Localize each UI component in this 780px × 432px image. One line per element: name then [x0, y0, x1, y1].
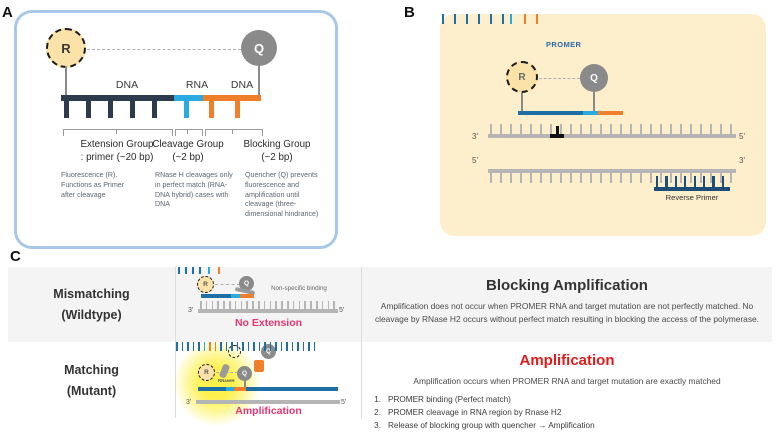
match-quencher-circle: Q [237, 366, 252, 381]
match-probe-rna [226, 387, 234, 391]
reverse-primer-bar [654, 187, 730, 191]
row-diagram-matching: Q R Q RNaseH 3' 5' [176, 342, 362, 418]
panel-b-probe-blocking [598, 111, 623, 115]
amplification-step-text: Release of blocking group with quencher … [388, 419, 595, 432]
mismatch-left-end: 3' [188, 307, 193, 314]
released-blocking-group [254, 360, 264, 372]
row-label-matching-line1: Matching [64, 363, 119, 377]
panel-b-quencher-circle: Q [580, 64, 608, 92]
reporter-circle: R [46, 28, 86, 68]
amplification-step: 1.PROMER binding (Perfect match) [372, 393, 762, 406]
promer-label: PROMER [546, 40, 581, 49]
panel-b-probe-teeth [440, 14, 766, 24]
panel-b-reporter-label: R [518, 72, 525, 83]
panel-a-letter: A [2, 4, 13, 21]
brace-tick-blocking [232, 129, 233, 134]
row-label-matching-line2: (Mutant) [67, 384, 116, 398]
table-row: Mismatching (Wildtype) R Q [8, 267, 772, 342]
group-desc-blocking: Quencher (Q) prevents fluorescence and a… [245, 171, 325, 220]
mismatch-status: No Extension [176, 317, 361, 329]
quencher-label: Q [254, 41, 264, 56]
blocking-amplification-title: Blocking Amplification [372, 277, 762, 294]
mutation-marker-base [550, 134, 564, 138]
match-reporter-label: R [204, 369, 209, 376]
panel-b-reporter-circle: R [506, 61, 538, 93]
brace-tick-cleavage [187, 129, 188, 134]
mismatch-reporter-quencher-link [215, 284, 240, 285]
group-desc-cleavage: RNase H cleavages only in perfect match … [155, 171, 233, 210]
match-reporter-circle: R [198, 364, 215, 381]
amplification-step-number: 2. [372, 406, 381, 419]
panel-b-probe-dna [518, 111, 583, 115]
amplification-step: 3.Release of blocking group with quenche… [372, 419, 762, 432]
row-text-mismatching: Blocking Amplification Amplification doe… [362, 267, 772, 342]
amplification-step: 2.PROMER cleavage in RNA region by Rnase… [372, 406, 762, 419]
mismatch-probe-rna [231, 294, 240, 298]
mismatch-template-teeth [200, 301, 336, 309]
mismatch-note: Non-specific binding [268, 285, 330, 293]
panel-b-probe-rna [583, 111, 598, 115]
row-label-mismatching-line2: (Wildtype) [61, 308, 121, 322]
panel-c-table: Mismatching (Wildtype) R Q [8, 267, 772, 418]
reporter-stem [65, 66, 67, 95]
released-blocking-circle [228, 345, 241, 358]
row-label-matching: Matching (Mutant) [8, 342, 176, 418]
match-status: Amplification [176, 405, 361, 417]
brace-extension-group [63, 129, 173, 136]
panel-b-quencher-label: Q [590, 73, 598, 84]
panel-b-quencher-stem [593, 92, 595, 111]
match-template-strand [196, 400, 340, 404]
panel-b-top-strand-teeth [490, 124, 734, 134]
group-title-blocking-line1: Blocking Group [225, 139, 329, 152]
panel-b-reporter-stem [521, 93, 523, 111]
mismatch-reporter-label: R [203, 281, 208, 288]
panel-b-bottom-strand-right-end: 3' [739, 156, 745, 165]
match-probe-dna [198, 387, 226, 391]
panel-a: R Q DNA RNA DNA Extension Group : primer… [14, 10, 338, 249]
blocking-amplification-body: Amplification does not occur when PROMER… [372, 300, 762, 325]
reporter-quencher-dashed-link [87, 49, 241, 50]
panel-b-top-strand-right-end: 5' [739, 132, 745, 141]
reporter-label: R [61, 41, 70, 56]
match-probe-blocking [234, 387, 246, 391]
group-desc-extension: Fluorescence (R). Functions as Primer af… [61, 171, 139, 200]
brace-tick-extension [116, 129, 117, 134]
rnaseh-label: RNaseH [218, 378, 234, 383]
mismatch-probe-dna [201, 294, 231, 298]
mismatch-reporter-circle: R [197, 276, 214, 293]
mismatch-template-strand [198, 309, 338, 313]
quencher-circle: Q [241, 30, 277, 66]
amplification-step-number: 3. [372, 419, 381, 432]
segment-label-rna: RNA [177, 79, 217, 91]
amplification-step-text: PROMER cleavage in RNA region by Rnase H… [388, 406, 561, 419]
group-title-blocking-line2: (~2 bp) [225, 152, 329, 165]
reverse-primer-label: Reverse Primer [644, 193, 740, 202]
amplification-steps: 1.PROMER binding (Perfect match)2.PROMER… [372, 393, 762, 432]
segment-label-dna-right: DNA [222, 79, 262, 91]
table-row: Matching (Mutant) Q R Q RNaseH [8, 342, 772, 418]
panel-b-top-strand [488, 134, 736, 138]
amplification-step-text: PROMER binding (Perfect match) [388, 393, 511, 406]
group-title-blocking: Blocking Group (~2 bp) [225, 139, 329, 164]
panel-b-bottom-strand-left-end: 5' [472, 156, 478, 165]
match-extended-strand [246, 387, 338, 391]
match-quencher-label: Q [242, 370, 247, 377]
mismatch-probe-teeth [176, 267, 361, 274]
panel-b-letter: B [404, 4, 415, 21]
reverse-primer-teeth [656, 176, 728, 187]
mismatch-quencher-label: Q [244, 280, 249, 287]
mismatch-probe-blocking [240, 294, 254, 298]
panel-b-top-strand-left-end: 3' [472, 132, 478, 141]
segment-label-dna-left: DNA [87, 79, 167, 91]
row-label-mismatching-line1: Mismatching [53, 287, 129, 301]
panel-b: PROMER R Q 3' 5' 5' 3' Reverse Primer [440, 14, 766, 236]
amplification-body: Amplification occurs when PROMER RNA and… [372, 375, 762, 388]
row-text-matching: Amplification Amplification occurs when … [362, 342, 772, 418]
amplification-step-number: 1. [372, 393, 381, 406]
brace-blocking-group [205, 129, 263, 136]
panel-b-reporter-quencher-link [539, 78, 580, 79]
mismatch-right-end: 5' [339, 307, 344, 314]
row-label-mismatching: Mismatching (Wildtype) [8, 267, 176, 342]
row-diagram-mismatching: R Q Non-specific binding [176, 267, 362, 342]
brace-cleavage-group [175, 129, 203, 136]
panel-c: Mismatching (Wildtype) R Q [0, 245, 780, 418]
amplification-title: Amplification [372, 352, 762, 369]
